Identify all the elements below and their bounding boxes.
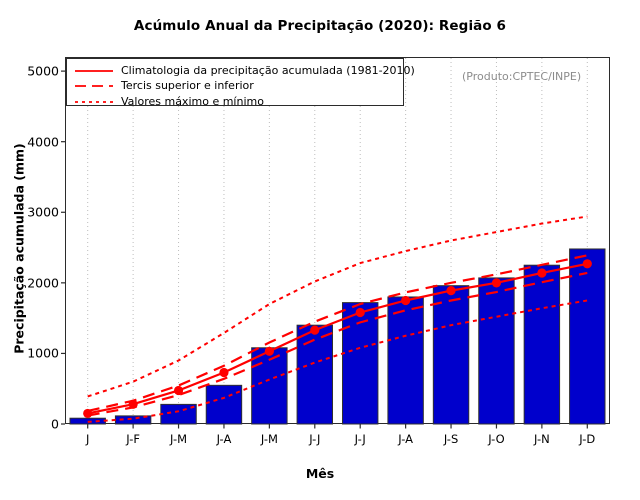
climatology-line-group <box>83 259 592 418</box>
precipitation-chart-figure: Acúmulo Anual da Precipitação (2020): Re… <box>0 0 640 500</box>
legend-label-tercis: Tercis superior e inferior <box>121 80 254 92</box>
bars-group <box>70 249 605 424</box>
dashed-line-key <box>73 80 115 92</box>
y-axis-tick-label: 0 <box>13 417 59 432</box>
legend-item-valores: Valores máximo e mínimo <box>73 95 403 108</box>
dotted-line-key <box>73 96 115 108</box>
source-annotation: (Produto:CPTEC/INPE) <box>462 70 581 83</box>
y-axis-title: Precipitação acumulada (mm) <box>12 99 27 399</box>
x-axis-tick-label: J-D <box>557 432 617 446</box>
legend-label-valores: Valores máximo e mínimo <box>121 96 264 108</box>
legend-label-climatologia: Climatologia da precipitação acumulada (… <box>121 65 415 77</box>
legend-item-tercis: Tercis superior e inferior <box>73 80 403 93</box>
legend-item-climatologia: Climatologia da precipitação acumulada (… <box>73 64 403 77</box>
y-axis-tick-label: 5000 <box>13 64 59 79</box>
solid-line-key <box>73 65 115 77</box>
chart-legend: Climatologia da precipitação acumulada (… <box>66 58 404 106</box>
x-axis-title: Mês <box>0 466 640 481</box>
